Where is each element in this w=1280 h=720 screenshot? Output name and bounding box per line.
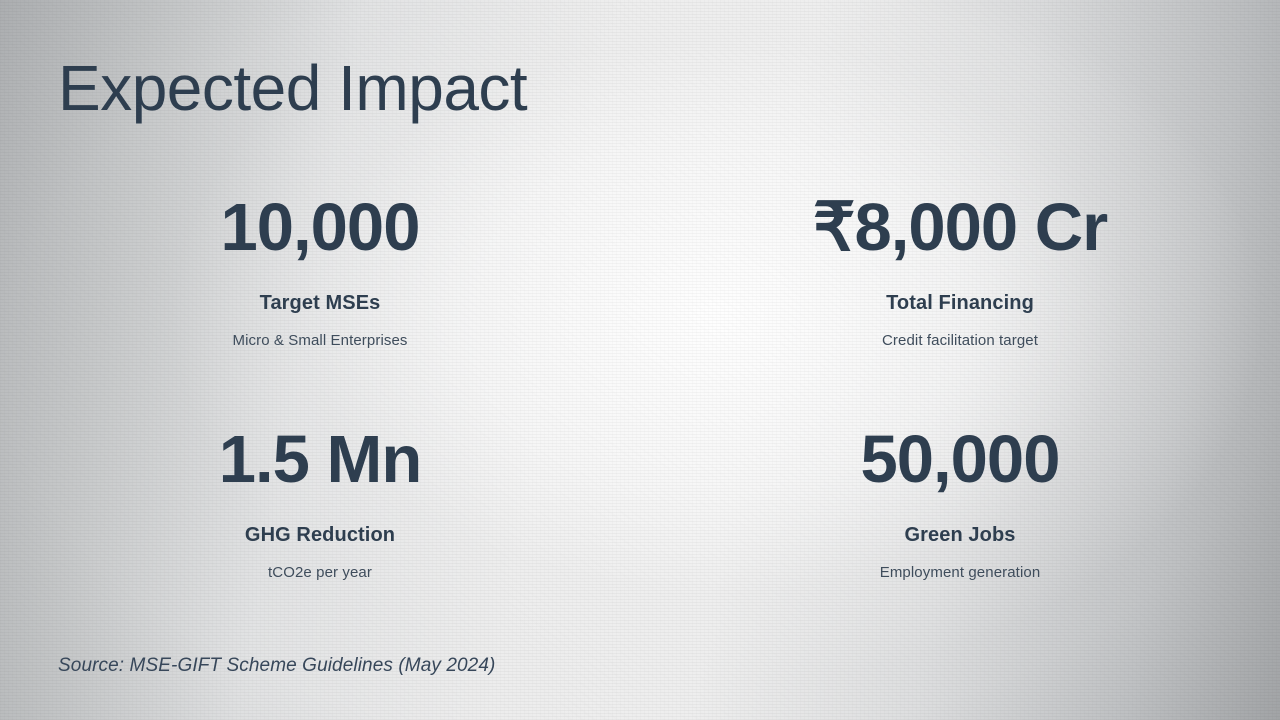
stat-value: 50,000 (861, 426, 1060, 493)
stat-card-ghg-reduction: 1.5 Mn GHG Reduction tCO2e per year (0, 414, 640, 646)
stat-caption: Micro & Small Enterprises (232, 332, 407, 350)
stat-label: Target MSEs (260, 291, 381, 315)
stat-card-total-financing: ₹8,000 Cr Total Financing Credit facilit… (640, 182, 1280, 414)
page-title: Expected Impact (58, 52, 527, 126)
stat-label: Total Financing (886, 291, 1034, 315)
stat-caption: Credit facilitation target (882, 332, 1038, 350)
stat-caption: Employment generation (880, 564, 1041, 582)
stat-value: 10,000 (221, 194, 420, 261)
source-note: Source: MSE-GIFT Scheme Guidelines (May … (58, 655, 495, 677)
slide-content: Expected Impact 10,000 Target MSEs Micro… (0, 0, 1280, 720)
stat-caption: tCO2e per year (268, 564, 372, 582)
stat-value: ₹8,000 Cr (813, 194, 1107, 261)
stat-card-green-jobs: 50,000 Green Jobs Employment generation (640, 414, 1280, 646)
stats-grid: 10,000 Target MSEs Micro & Small Enterpr… (0, 182, 1280, 646)
stat-card-target-mses: 10,000 Target MSEs Micro & Small Enterpr… (0, 182, 640, 414)
stat-value: 1.5 Mn (219, 426, 422, 493)
slide-canvas: Expected Impact 10,000 Target MSEs Micro… (0, 0, 1280, 720)
stat-label: GHG Reduction (245, 523, 395, 547)
stat-label: Green Jobs (904, 523, 1015, 547)
